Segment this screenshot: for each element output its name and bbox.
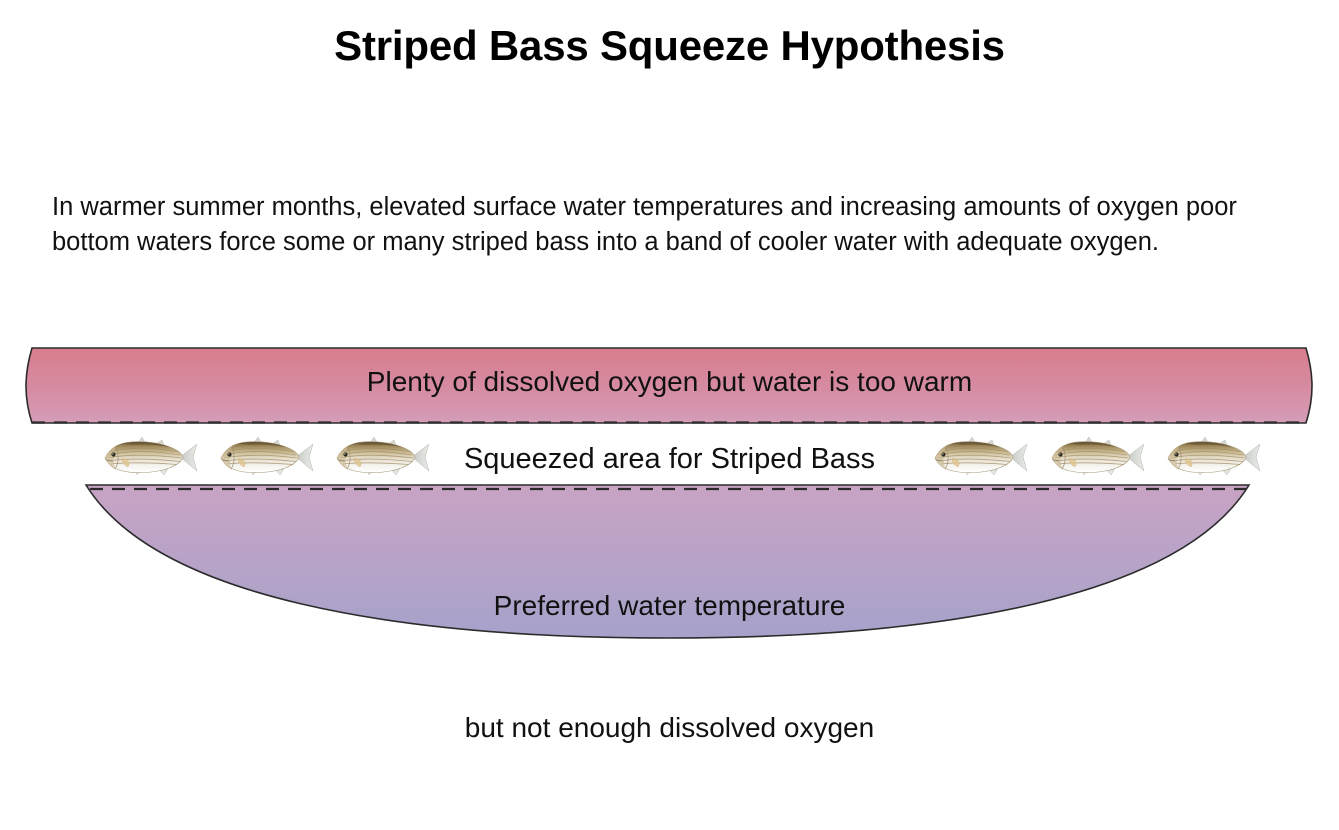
- cold-water-band: [86, 485, 1249, 638]
- striped-bass-fish-icon: [98, 430, 202, 484]
- warm-water-band: [26, 348, 1312, 423]
- striped-bass-fish-icon: [214, 430, 318, 484]
- striped-bass-fish-icon: [928, 430, 1032, 484]
- page-title: Striped Bass Squeeze Hypothesis: [0, 22, 1339, 70]
- striped-bass-squeeze-diagram: Plenty of dissolved oxygen but water is …: [0, 330, 1339, 660]
- striped-bass-fish-icon: [1045, 430, 1149, 484]
- diagram-shapes: [0, 330, 1339, 660]
- cold-band-label-line2: but not enough dissolved oxygen: [0, 708, 1339, 749]
- striped-bass-fish-icon: [1161, 430, 1265, 484]
- fish-row: [0, 430, 1339, 486]
- intro-paragraph: In warmer summer months, elevated surfac…: [52, 190, 1292, 260]
- striped-bass-fish-icon: [330, 430, 434, 484]
